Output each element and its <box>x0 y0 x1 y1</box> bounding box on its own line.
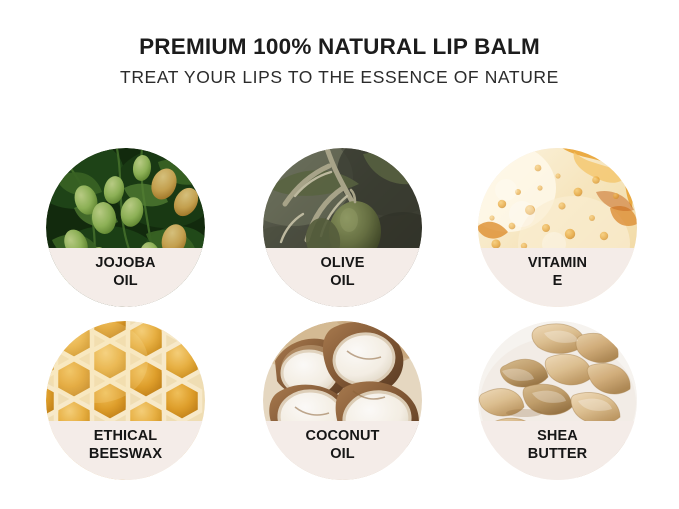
ingredient-label: JOJOBA OIL <box>95 255 155 290</box>
ingredient-badge: JOJOBA OIL <box>46 148 205 307</box>
ingredient-label-band: OLIVE OIL <box>263 248 422 307</box>
ingredient-label-band: COCONUT OIL <box>263 421 422 480</box>
ingredient-card-olive-oil: OLIVE OIL <box>263 148 422 307</box>
ingredient-card-shea-butter: SHEA BUTTER <box>478 321 637 480</box>
ingredient-label: VITAMIN E <box>528 255 587 290</box>
ingredient-card-coconut-oil: COCONUT OIL <box>263 321 422 480</box>
ingredient-label-band: VITAMIN E <box>478 248 637 307</box>
ingredient-card-ethical-beeswax: ETHICAL BEESWAX <box>46 321 205 480</box>
ingredient-badge: OLIVE OIL <box>263 148 422 307</box>
ingredient-label: OLIVE OIL <box>320 255 364 290</box>
ingredient-label: SHEA BUTTER <box>528 428 587 463</box>
ingredient-badge: VITAMIN E <box>478 148 637 307</box>
ingredient-card-vitamin-e: VITAMIN E <box>478 148 637 307</box>
poster-root: PREMIUM 100% NATURAL LIP BALM TREAT YOUR… <box>0 0 679 509</box>
page-title: PREMIUM 100% NATURAL LIP BALM <box>0 34 679 60</box>
ingredient-label: COCONUT OIL <box>306 428 380 463</box>
ingredient-card-jojoba-oil: JOJOBA OIL <box>46 148 205 307</box>
ingredient-badge: SHEA BUTTER <box>478 321 637 480</box>
ingredient-label: ETHICAL BEESWAX <box>89 428 162 463</box>
header: PREMIUM 100% NATURAL LIP BALM TREAT YOUR… <box>0 34 679 88</box>
ingredient-label-band: JOJOBA OIL <box>46 248 205 307</box>
ingredient-label-band: ETHICAL BEESWAX <box>46 421 205 480</box>
ingredient-badge: COCONUT OIL <box>263 321 422 480</box>
ingredient-label-band: SHEA BUTTER <box>478 421 637 480</box>
page-subtitle: TREAT YOUR LIPS TO THE ESSENCE OF NATURE <box>0 66 679 88</box>
ingredient-grid: JOJOBA OIL <box>46 148 637 480</box>
ingredient-badge: ETHICAL BEESWAX <box>46 321 205 480</box>
